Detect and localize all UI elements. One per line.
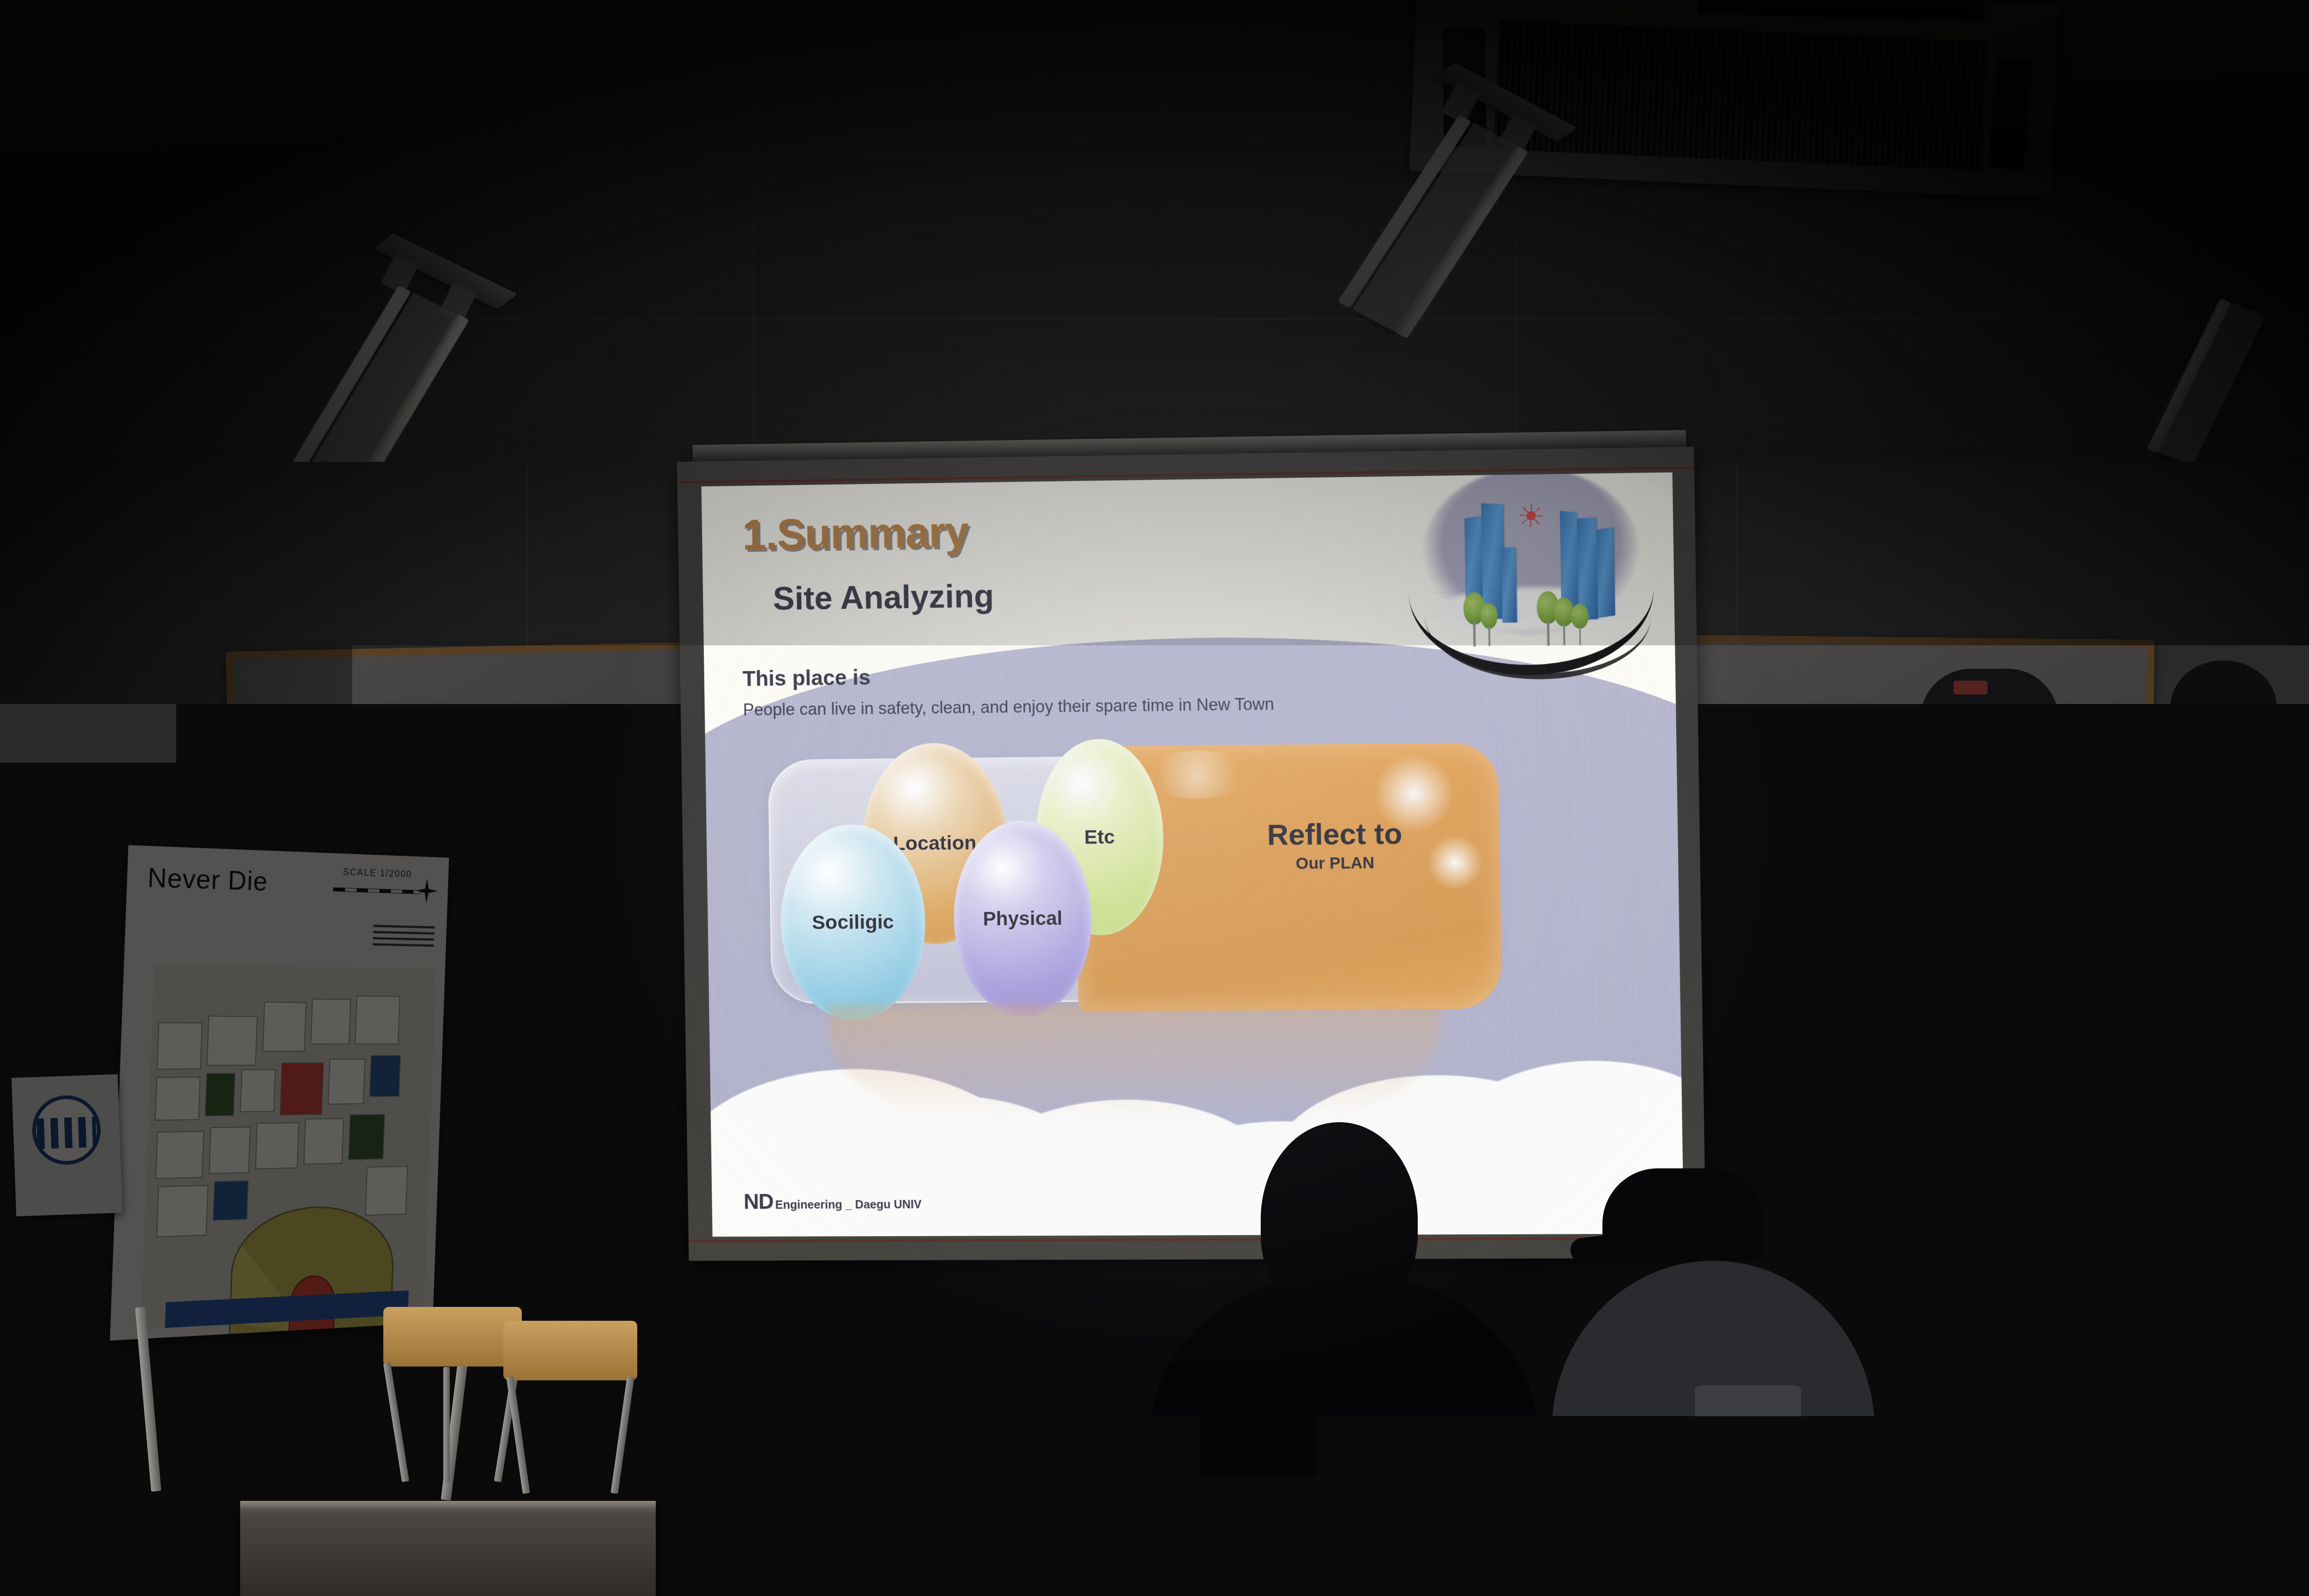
jacket-text: PL <box>2047 989 2086 1023</box>
glasses-glint <box>1911 744 1923 748</box>
audience-body <box>2230 1464 2309 1596</box>
map-block <box>355 996 400 1045</box>
audience-member <box>0 1182 397 1596</box>
city-skyline-vignette <box>1407 472 1656 681</box>
slide-subtitle: Site Analyzing <box>773 577 994 617</box>
map-block <box>328 1058 365 1104</box>
capsule-outcome-text: Reflect to Our PLAN <box>1188 816 1481 874</box>
ceiling-seam <box>753 0 754 490</box>
capsule-diagram: Location Etc Sociligic Physical Reflect … <box>768 752 1498 1004</box>
poster-scale-label: SCALE 1/2000 <box>343 866 412 880</box>
map-block <box>255 1122 299 1169</box>
map-block-park <box>348 1114 386 1161</box>
footer-dept: Engineering _ Daegu UNIV <box>775 1198 922 1212</box>
presenter-yellow-hood <box>1976 775 2091 858</box>
slide-lead-text: This place is <box>742 665 870 691</box>
legend-line <box>373 931 435 935</box>
observer-body <box>2138 770 2309 1204</box>
legend-line <box>373 925 435 928</box>
stool-leg <box>443 1367 450 1482</box>
lecture-room: 1.Summary Site Analyzing This place is P… <box>0 0 2309 1596</box>
audience-member <box>1136 1122 1552 1596</box>
footer-brand: ND <box>743 1189 774 1214</box>
audience-body <box>1150 1275 1538 1596</box>
stool-seat <box>383 1307 522 1366</box>
stool-leg <box>610 1376 634 1494</box>
map-block <box>303 1118 344 1165</box>
stool <box>383 1307 522 1482</box>
standing-observer <box>2124 660 2309 1205</box>
red-sun-icon <box>1523 508 1539 524</box>
bubble-label: Etc <box>1084 826 1115 848</box>
map-block <box>207 1016 258 1066</box>
map-block <box>262 1002 307 1052</box>
map-block-water <box>369 1055 401 1097</box>
legend-line <box>373 943 434 947</box>
map-block <box>156 1131 205 1179</box>
audience-head <box>2106 1312 2166 1372</box>
poster-legend <box>372 921 435 951</box>
map-block <box>157 1022 203 1070</box>
poster-scale-bar <box>333 888 421 895</box>
stool <box>503 1321 637 1496</box>
map-block <box>209 1127 251 1174</box>
chair-handle-slot <box>777 1404 840 1421</box>
map-block <box>240 1070 276 1112</box>
poster-title: Never Die <box>147 862 268 897</box>
cap-logo <box>1953 681 1988 695</box>
map-block <box>155 1077 200 1121</box>
outcome-secondary: Our PLAN <box>1189 853 1482 874</box>
glare-highlight <box>1142 750 1252 799</box>
audience-member <box>1496 1168 1893 1596</box>
audience-member <box>2230 1376 2309 1596</box>
legend-line <box>373 937 434 941</box>
hoodie-print <box>1695 1385 1801 1473</box>
presenter-hand <box>1870 845 1920 908</box>
outcome-primary: Reflect to <box>1188 816 1481 852</box>
brush-stroke-arc-secondary <box>1425 616 1650 680</box>
north-arrow-icon <box>415 878 439 904</box>
chair <box>720 1376 896 1596</box>
map-block <box>310 998 351 1044</box>
slide-title: 1.Summary <box>742 508 969 560</box>
map-block-park <box>205 1073 236 1117</box>
bubble-label: Sociligic <box>812 911 894 934</box>
bubble-label: Location <box>893 832 977 855</box>
observer-hair <box>2170 660 2277 753</box>
slide-footer: ND Engineering _ Daegu UNIV <box>743 1188 922 1214</box>
map-block-highlight <box>280 1062 324 1116</box>
stool-seat <box>503 1321 637 1380</box>
screenshot-root: 1.Summary Site Analyzing This place is P… <box>0 0 2309 1596</box>
bubble-label: Physical <box>983 907 1063 931</box>
stool-leg <box>506 1376 530 1494</box>
